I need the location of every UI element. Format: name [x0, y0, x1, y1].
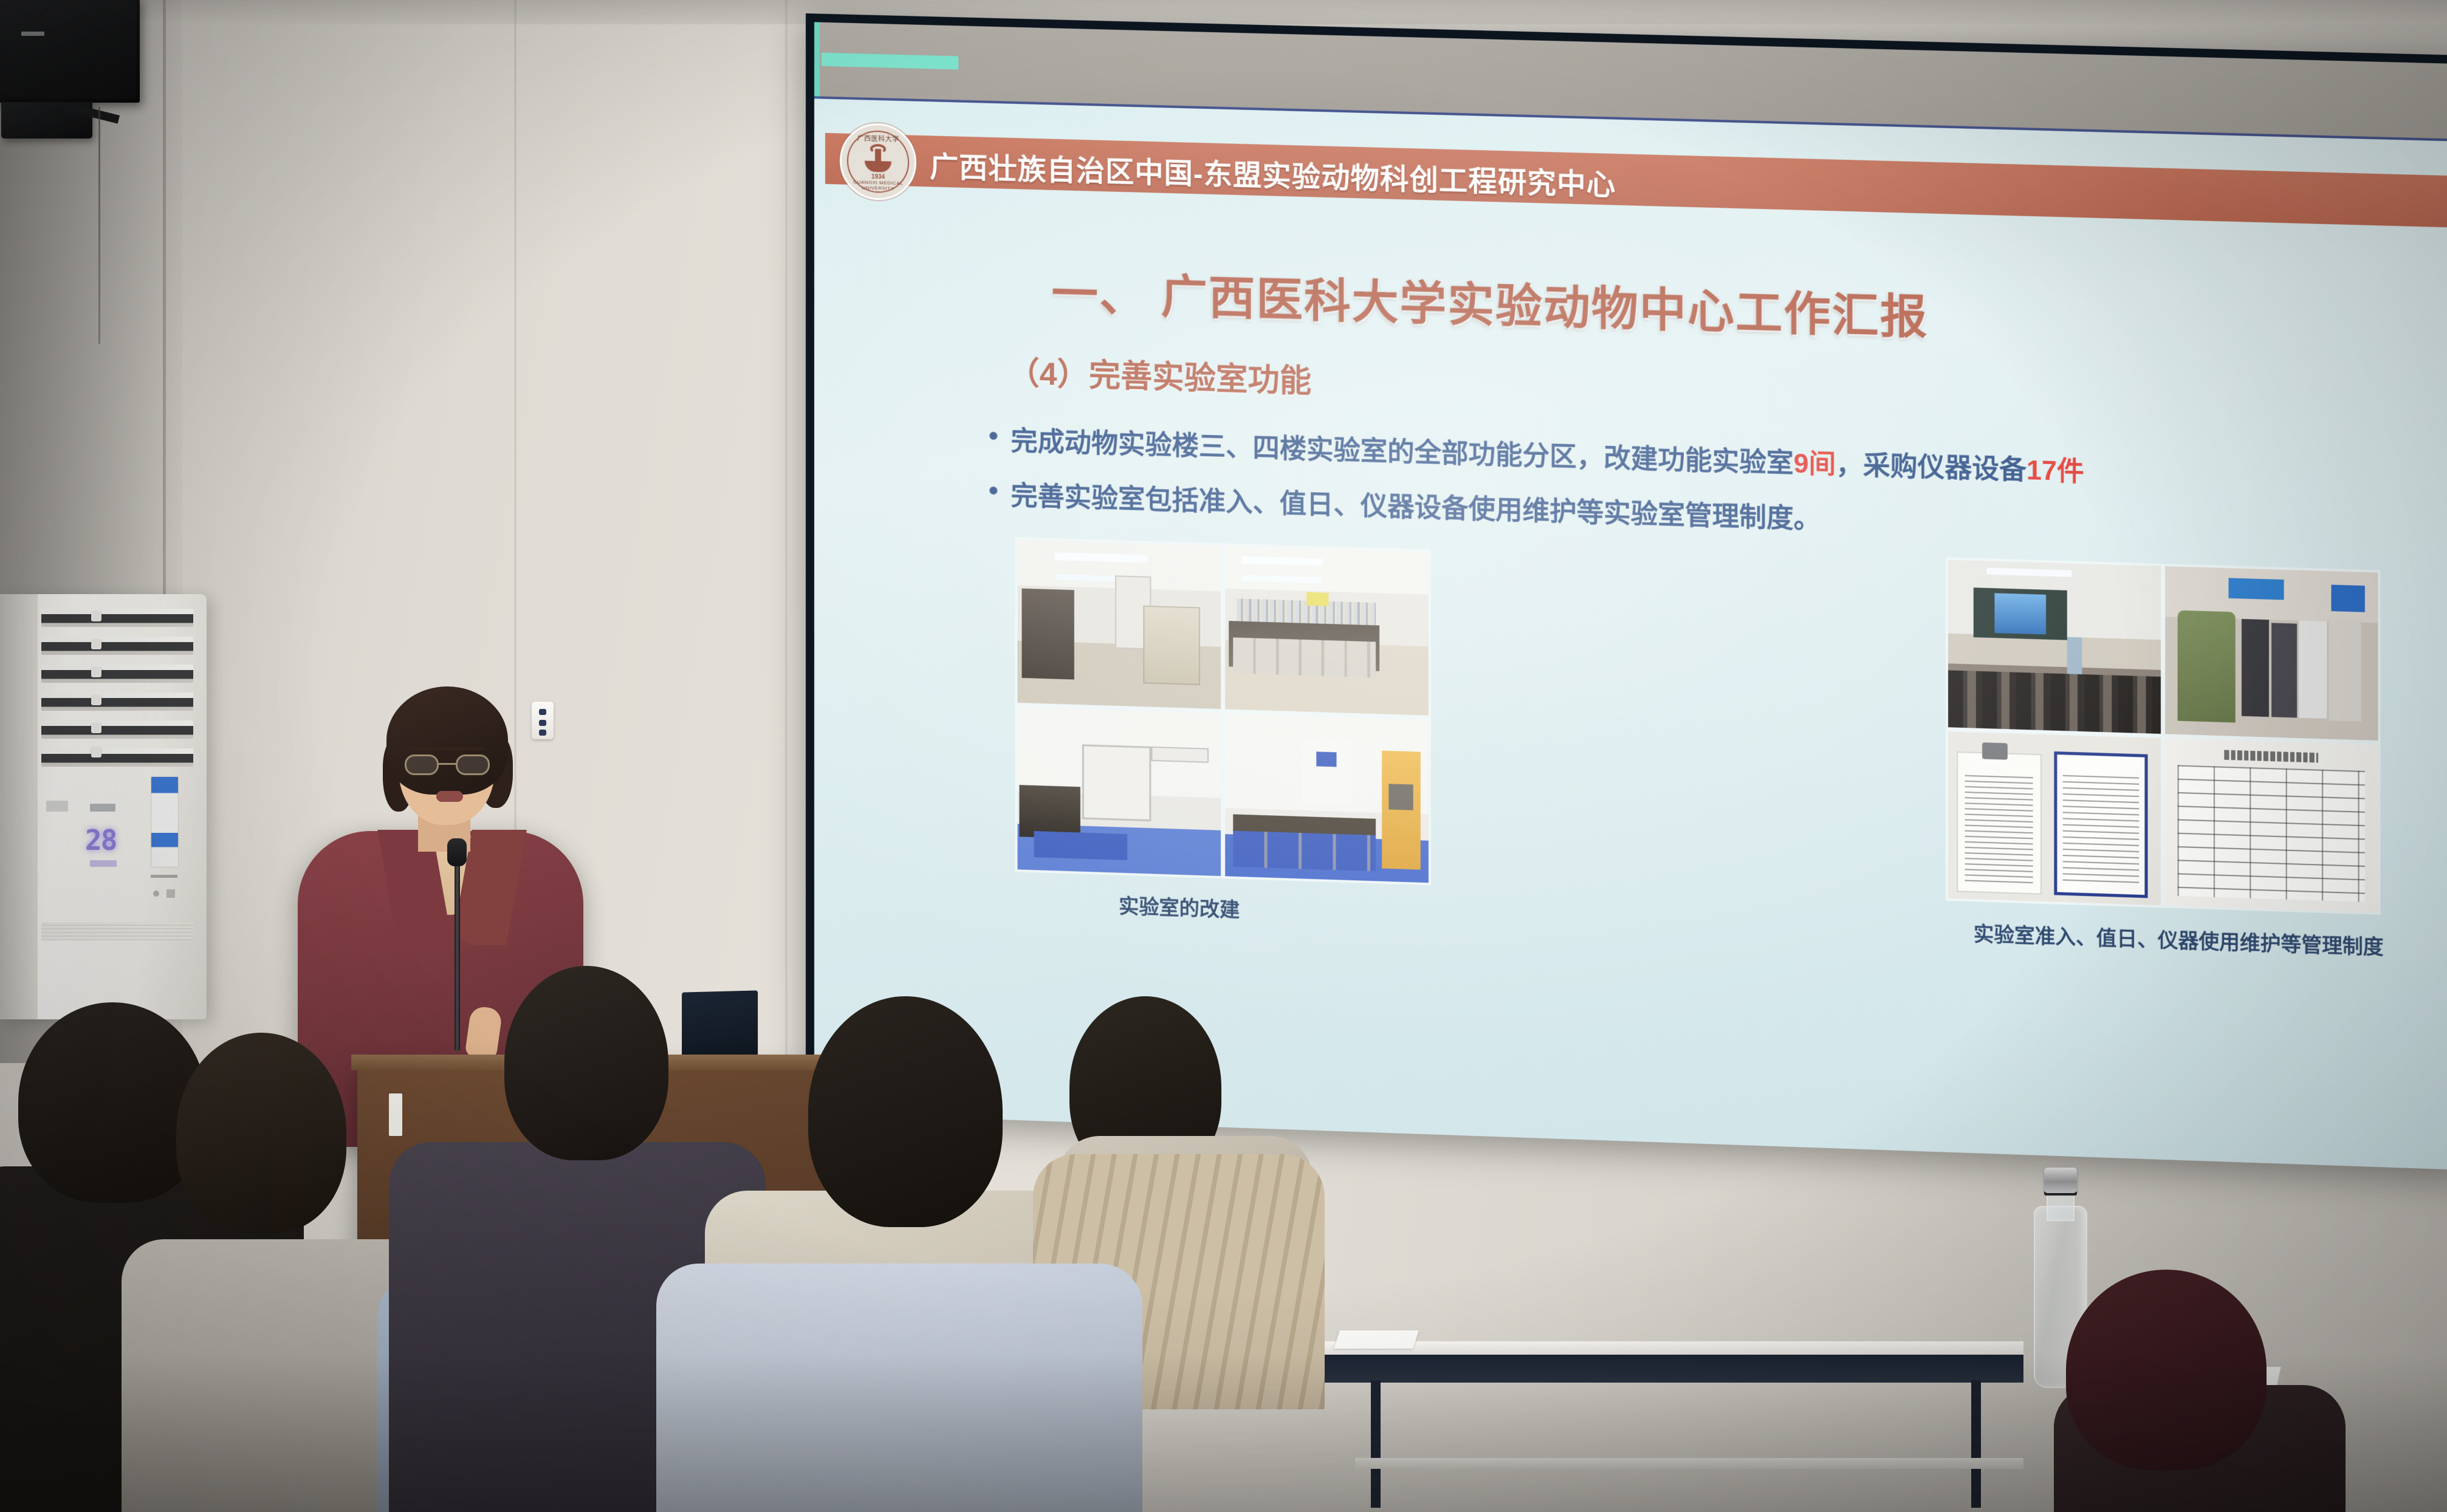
- slide-title: 一、 广西医科大学实验动物中心工作汇报: [1052, 256, 1929, 347]
- photo-grid-right-caption: 实验室准入、值日、仪器使用维护等管理制度: [1974, 917, 2384, 960]
- screen-surface: 广西壮族自治区中国-东盟实验动物科创工程研究中心 广西医科大学 1934 GUA…: [814, 22, 2447, 1170]
- presenter-mouth: [436, 791, 463, 802]
- podium-name-plate: [389, 1093, 402, 1136]
- bullet-text-segment: 完善实验室包括准入、值日、仪器设备使用维护等实验室管理制度。: [1011, 481, 1821, 535]
- ac-secondary-logo: [46, 801, 68, 812]
- photo-lab-benches-instruments: [1225, 546, 1429, 715]
- photo-lab-bench-yellow-cabinet: [1225, 713, 1429, 883]
- projection-screen: 广西壮族自治区中国-东盟实验动物科创工程研究中心 广西医科大学 1934 GUA…: [806, 13, 2447, 1170]
- bullet-highlight-number: 9间: [1794, 449, 1836, 480]
- bullet-dot-icon: [989, 432, 997, 440]
- table-paper: [1334, 1330, 1419, 1349]
- audience-member-head: [504, 966, 668, 1160]
- ac-energy-label: [151, 776, 179, 867]
- speaker-grille: [0, 0, 136, 99]
- photo-equipment-maintenance-record-form: [2165, 738, 2378, 912]
- presenter-brow: [410, 747, 485, 750]
- ac-louver-nub: [91, 667, 101, 677]
- logo-arc-bottom: GUANGXI MEDICAL UNIVERSITY: [842, 179, 915, 192]
- slide-subtitle: （4）完善实验室功能: [1007, 347, 1311, 401]
- ac-display-sublabel: [90, 860, 117, 867]
- ac-lower-grille: [41, 922, 193, 940]
- audience-member-head: [18, 1002, 207, 1203]
- bullet-text-segment: ，采购仪器设备: [1836, 450, 2027, 485]
- photo-posted-regulation-sheets: [1948, 731, 2161, 905]
- speaker-logo: [21, 32, 44, 36]
- bullet-highlight-number: 17件: [2027, 456, 2084, 487]
- ac-louver-nub: [91, 723, 101, 733]
- photo-grid-right: [1946, 557, 2381, 914]
- ac-louver-nub: [91, 695, 101, 705]
- ac-louver-nub: [91, 611, 101, 621]
- photo-group-briefing-hallway: [2165, 566, 2378, 740]
- microphone-stand: [455, 850, 460, 1051]
- ac-qr-code: [166, 889, 175, 898]
- logo-arc-top: 广西医科大学: [842, 133, 915, 145]
- photo-grid-left: [1015, 537, 1430, 885]
- wall-seam: [163, 0, 166, 680]
- slide-content: 广西壮族自治区中国-东盟实验动物科创工程研究中心 广西医科大学 1934 GUA…: [814, 98, 2447, 1170]
- bullet-dot-icon: [989, 487, 997, 494]
- logo-emblem: 1934: [862, 143, 894, 179]
- eyeglasses-icon: [405, 754, 490, 775]
- ac-model-bar: [151, 875, 177, 878]
- ac-power-button[interactable]: [153, 891, 159, 897]
- wall-seam: [785, 0, 788, 1154]
- audience-member-head: [176, 1033, 346, 1233]
- bullet-text: 完善实验室包括准入、值日、仪器设备使用维护等实验室管理制度。: [1011, 474, 1821, 536]
- bullet-text-segment: 完成动物实验楼三、四楼实验室的全部功能分区，改建功能实验室: [1011, 426, 1793, 479]
- ac-side-panel: [0, 594, 38, 1019]
- floor-shadow: [0, 1354, 2447, 1512]
- photo-training-session-classroom: [1948, 560, 2161, 734]
- bottle-cap[interactable]: [2044, 1168, 2077, 1193]
- audience-member-head: [808, 996, 1003, 1227]
- university-logo: 广西医科大学 1934 GUANGXI MEDICAL UNIVERSITY: [840, 122, 916, 200]
- presenter-hair: [386, 686, 508, 795]
- photo-grid-left-caption: 实验室的改建: [1119, 890, 1240, 923]
- photo-lab-corridor-equipment: [1017, 539, 1220, 708]
- ceiling-strip: [0, 0, 2447, 24]
- ac-brand-logo: [90, 804, 115, 812]
- conference-table-top: [1319, 1341, 2023, 1355]
- ac-temperature-display: 28: [85, 824, 134, 863]
- ac-louver-nub: [91, 639, 101, 649]
- ac-louver-nub: [91, 747, 101, 758]
- photo-lab-fume-hood-room: [1017, 706, 1220, 876]
- air-conditioner-unit[interactable]: 28: [0, 594, 207, 1019]
- microphone-head: [447, 838, 467, 866]
- wall-speaker: [0, 0, 140, 103]
- ac-vent-louvers: [41, 609, 193, 767]
- speaker-cable: [98, 107, 100, 344]
- presentation-room-scene: 28 广西壮族自治区中国-东盟实验动物科创工程研究中心 广西医科大学: [0, 0, 2447, 1512]
